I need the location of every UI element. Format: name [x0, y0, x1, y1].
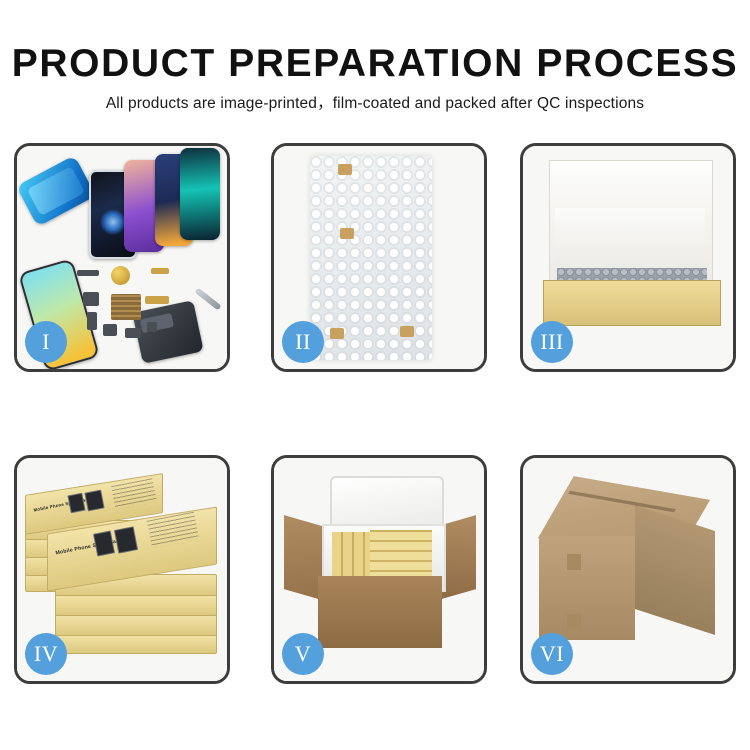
tape-top: [338, 164, 352, 175]
carton-side-face: [635, 505, 715, 635]
carton-body: [318, 576, 442, 648]
screwdriver-tool: [194, 287, 221, 310]
carton-tape-upper: [567, 554, 581, 570]
process-step-panel-4: Mobile Phone Spare Parts Mobile Phone Sp…: [14, 455, 230, 684]
small-part-3: [83, 292, 99, 306]
carton-tape-lower: [567, 614, 581, 630]
page-subtitle: All products are image-printed，film-coat…: [0, 86, 750, 114]
tape-bottom-right: [400, 326, 414, 337]
phone-teal: [180, 148, 220, 240]
small-part-5: [103, 324, 117, 336]
process-step-panel-3: III: [520, 143, 736, 372]
gold-coil-part: [111, 266, 130, 285]
stacked-box-f3: [55, 594, 217, 616]
small-part-4: [87, 312, 97, 330]
process-step-panel-5: V: [271, 455, 487, 684]
process-step-panel-6: VI: [520, 455, 736, 684]
carton-front-face: [539, 536, 635, 640]
step-badge-1: I: [25, 321, 67, 363]
tape-middle: [340, 228, 354, 239]
small-part-1: [77, 270, 99, 276]
step-badge-4: IV: [25, 633, 67, 675]
box-window-rear-1: [67, 493, 85, 514]
small-part-8: [147, 322, 157, 332]
process-step-panel-1: I: [14, 143, 230, 372]
header: PRODUCT PREPARATION PROCESS All products…: [0, 0, 750, 114]
box-window-front-2: [114, 526, 138, 553]
box-base: [543, 280, 721, 326]
process-step-grid: I II III: [0, 143, 750, 683]
step-badge-3: III: [531, 321, 573, 363]
chip-grid-part: [111, 294, 141, 320]
process-step-panel-2: II: [271, 143, 487, 372]
stacked-box-f5: [55, 634, 217, 654]
phone-back-housing: [132, 300, 203, 364]
box-window-rear-2: [84, 490, 104, 512]
stacked-box-f4: [55, 614, 217, 636]
small-part-2: [151, 268, 169, 274]
step-badge-6: VI: [531, 633, 573, 675]
step-badge-5: V: [282, 633, 324, 675]
yellow-boxes-stack: [370, 530, 432, 580]
phone-blue-tilted: [17, 155, 96, 227]
small-part-6: [145, 296, 169, 304]
tape-bottom-left: [330, 328, 344, 339]
step-badge-2: II: [282, 321, 324, 363]
small-part-7: [125, 328, 141, 338]
page-title: PRODUCT PREPARATION PROCESS: [0, 0, 750, 86]
